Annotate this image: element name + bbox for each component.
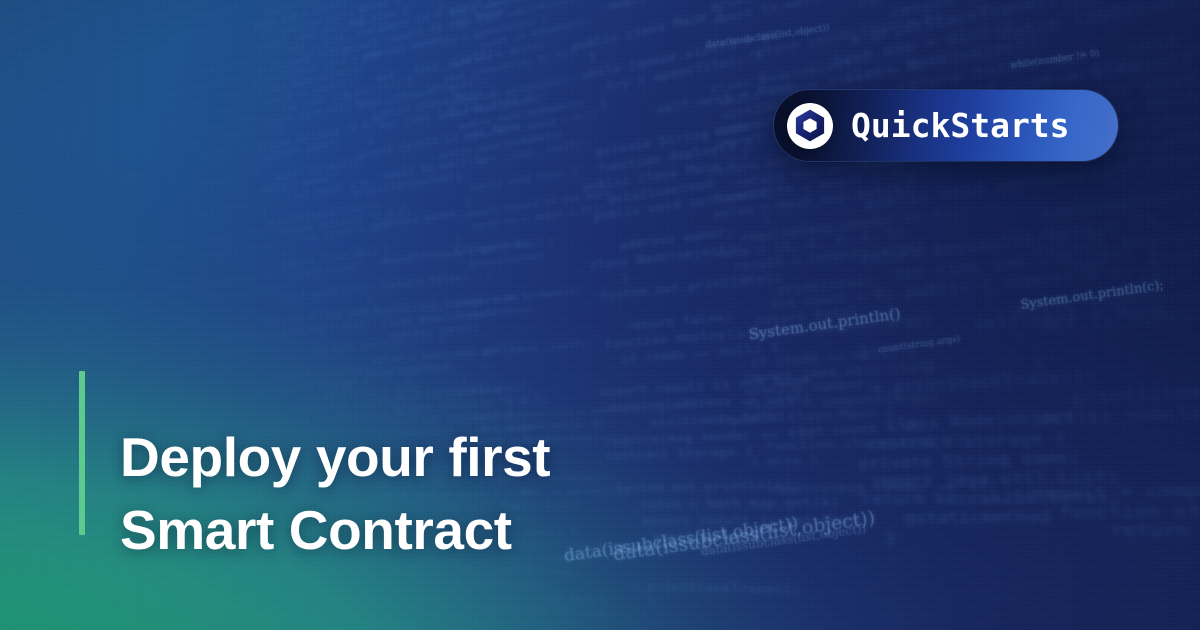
quickstarts-banner: } visit(node.left); print(len(value)) in… xyxy=(0,0,1200,630)
quickstarts-badge-label: QuickStarts xyxy=(851,109,1070,142)
page-title-line-2: Smart Contract xyxy=(120,494,760,567)
page-title: Deploy your first Smart Contract xyxy=(120,421,760,567)
quickstarts-badge[interactable]: QuickStarts xyxy=(774,90,1118,161)
chainlink-hexagon-icon xyxy=(787,103,833,149)
page-title-line-1: Deploy your first xyxy=(120,421,760,494)
title-accent-bar xyxy=(79,371,85,535)
